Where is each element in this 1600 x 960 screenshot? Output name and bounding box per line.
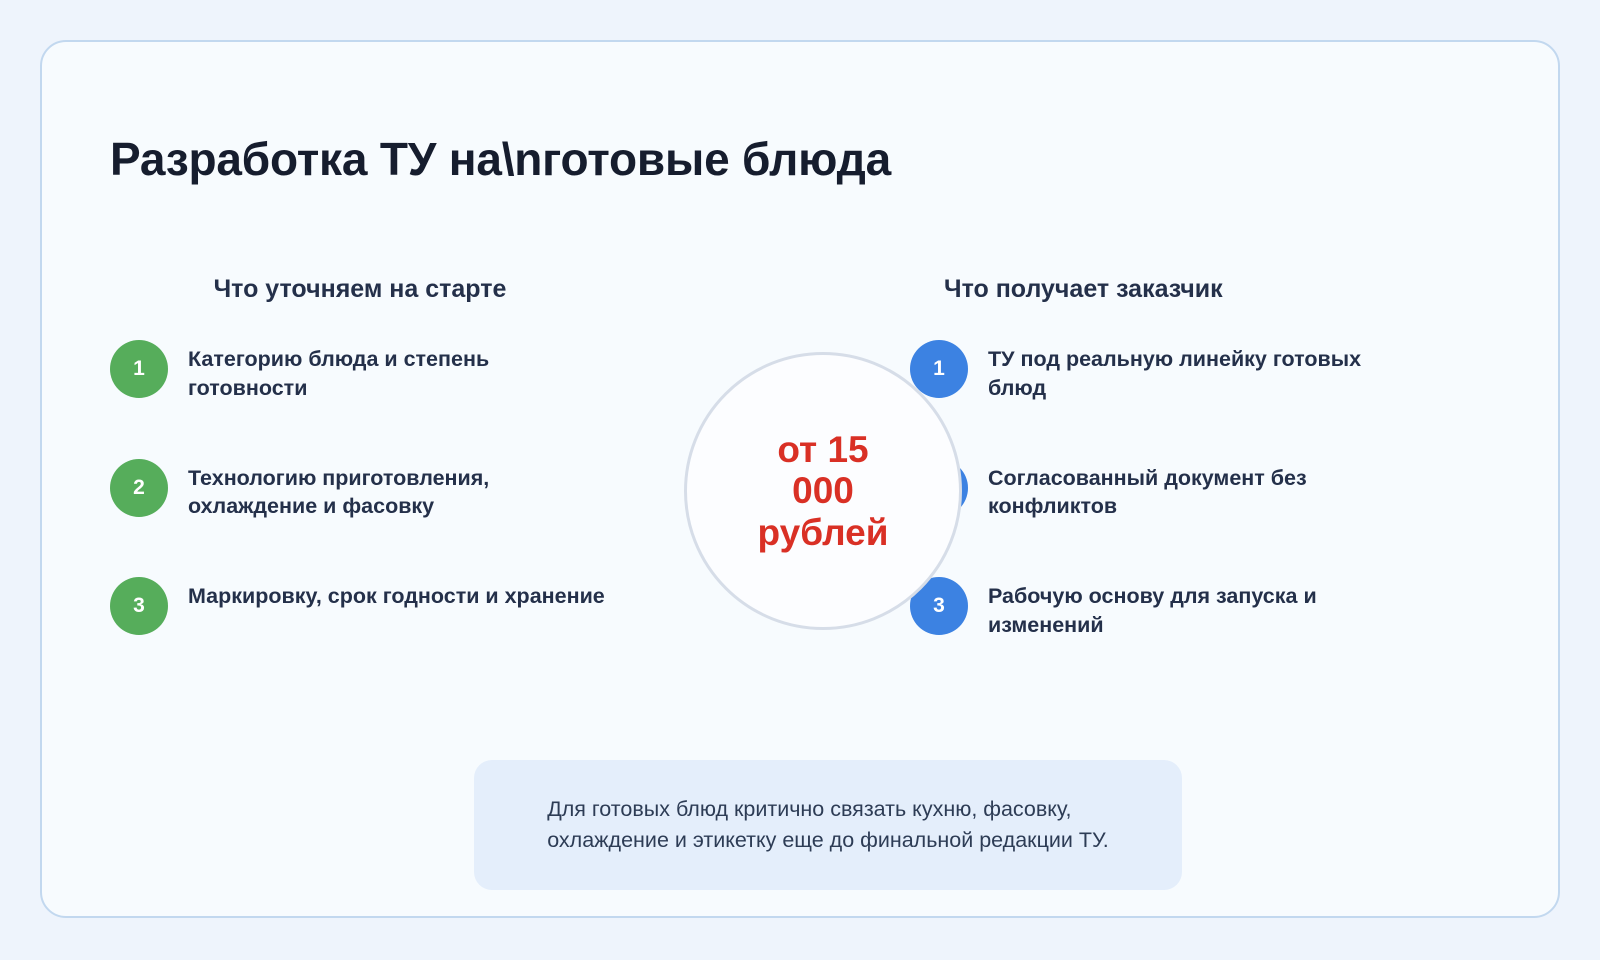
- list-item-label: ТУ под реальную линейку готовых блюд: [988, 338, 1408, 403]
- list-item: 1 Категорию блюда и степень готовности: [110, 338, 630, 403]
- list-item-label: Рабочую основу для запуска и изменений: [988, 575, 1408, 640]
- column-left-heading: Что уточняем на старте: [110, 274, 630, 304]
- list-item-label: Маркировку, срок годности и хранение: [188, 575, 605, 611]
- list-item: 3 Маркировку, срок годности и хранение: [110, 575, 630, 635]
- footer-note-text: Для готовых блюд критично связать кухню,…: [547, 794, 1109, 856]
- list-item-label: Технологию приготовления, охлаждение и ф…: [188, 457, 608, 522]
- list-item: 3 Рабочую основу для запуска и изменений: [910, 575, 1430, 640]
- list-item: 2 Технологию приготовления, охлаждение и…: [110, 457, 630, 522]
- price-badge: от 15 000 рублей: [684, 352, 962, 630]
- list-item-label: Категорию блюда и степень готовности: [188, 338, 608, 403]
- bullet-number: 1: [110, 340, 168, 398]
- page-title: Разработка ТУ на\nготовые блюда: [110, 133, 1498, 186]
- list-item: 1 ТУ под реальную линейку готовых блюд: [910, 338, 1430, 403]
- column-right: Что получает заказчик 1 ТУ под реальную …: [910, 274, 1430, 640]
- price-badge-label: от 15 000 рублей: [743, 429, 903, 553]
- slide-card: Разработка ТУ на\nготовые блюда Что уточ…: [40, 40, 1560, 918]
- list-item-label: Согласованный документ без конфликтов: [988, 457, 1408, 522]
- list-item: 2 Согласованный документ без конфликтов: [910, 457, 1430, 522]
- column-right-heading: Что получает заказчик: [910, 274, 1430, 304]
- bullet-number: 3: [110, 577, 168, 635]
- footer-note: Для готовых блюд критично связать кухню,…: [474, 760, 1182, 890]
- column-left: Что уточняем на старте 1 Категорию блюда…: [110, 274, 630, 635]
- bullet-number: 2: [110, 459, 168, 517]
